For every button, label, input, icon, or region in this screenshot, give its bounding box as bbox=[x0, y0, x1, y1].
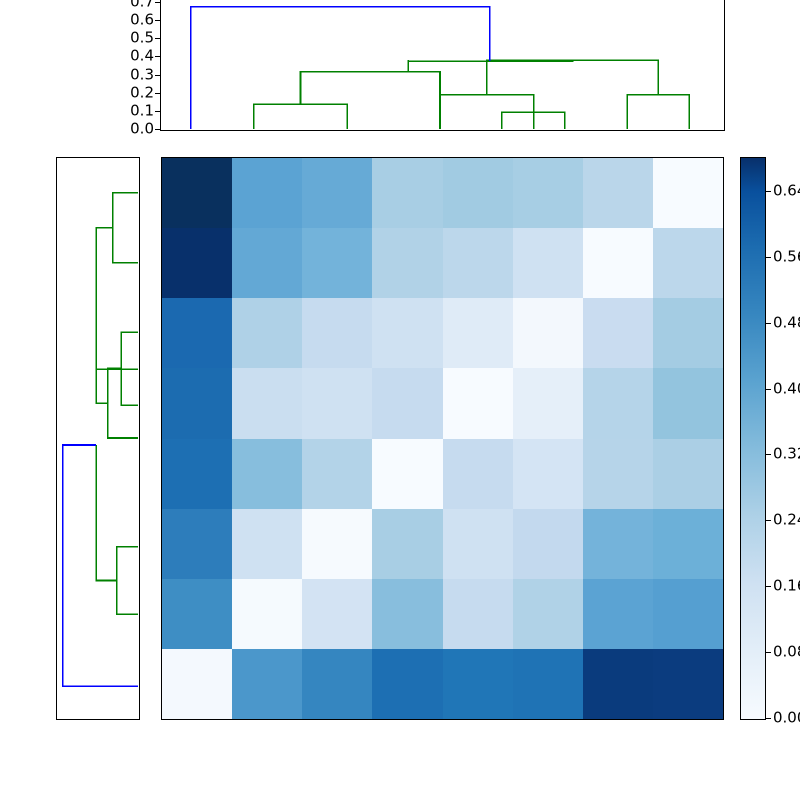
heatmap-cell bbox=[372, 158, 442, 228]
heatmap-cell bbox=[513, 649, 583, 719]
heatmap-cell bbox=[302, 509, 372, 579]
heatmap-cell bbox=[513, 158, 583, 228]
heatmap-cell bbox=[162, 368, 232, 438]
heatmap-cell bbox=[653, 649, 723, 719]
heatmap-cell bbox=[162, 158, 232, 228]
heatmap-cell bbox=[162, 298, 232, 368]
col-dendrogram-canvas bbox=[161, 0, 724, 130]
heatmap-cell bbox=[372, 579, 442, 649]
col-dendrogram-ytick-label: 0.6 bbox=[130, 13, 154, 28]
heatmap-cell bbox=[162, 649, 232, 719]
heatmap-cell bbox=[232, 579, 302, 649]
col-link-green-6 bbox=[627, 95, 689, 129]
heatmap-cell bbox=[583, 368, 653, 438]
col-link-green-2 bbox=[301, 72, 441, 129]
colorbar-tick-mark bbox=[766, 389, 771, 390]
heatmap-cell bbox=[162, 579, 232, 649]
heatmap-cell bbox=[583, 439, 653, 509]
heatmap-cell bbox=[232, 509, 302, 579]
heatmap-cell bbox=[232, 439, 302, 509]
heatmap-cell bbox=[232, 298, 302, 368]
colorbar-tick-mark bbox=[766, 586, 771, 587]
col-dendrogram-ytick-label: 0.0 bbox=[130, 122, 154, 137]
col-dendrogram-ytick-label: 0.4 bbox=[130, 49, 154, 64]
heatmap-cell bbox=[653, 368, 723, 438]
col-dendrogram-ytick-label: 0.5 bbox=[130, 31, 154, 46]
heatmap-cell bbox=[513, 509, 583, 579]
heatmap-cell bbox=[162, 509, 232, 579]
col-link-blue-root bbox=[191, 7, 490, 129]
heatmap-cell bbox=[653, 158, 723, 228]
heatmap-cell bbox=[162, 228, 232, 298]
col-link-green-9 bbox=[408, 60, 572, 72]
row-link-green-6 bbox=[117, 547, 138, 615]
heatmap-cell bbox=[653, 298, 723, 368]
heatmap-cell bbox=[372, 439, 442, 509]
colorbar-tick-label: 0.48 bbox=[773, 315, 800, 330]
heatmap-cell bbox=[302, 158, 372, 228]
heatmap-cell bbox=[372, 368, 442, 438]
heatmap-cell bbox=[443, 509, 513, 579]
row-dendrogram bbox=[56, 157, 140, 720]
heatmap-cell bbox=[583, 298, 653, 368]
row-link-blue-root bbox=[63, 445, 138, 686]
row-dendrogram-canvas bbox=[57, 158, 139, 719]
colorbar-tick-label: 0.16 bbox=[773, 579, 800, 594]
col-dendrogram-y-axis: 0.70.60.50.40.30.20.10.0 bbox=[122, 0, 160, 131]
heatmap-cell bbox=[653, 439, 723, 509]
colorbar-tick-label: 0.24 bbox=[773, 513, 800, 528]
colorbar bbox=[740, 157, 766, 720]
colorbar-tick-mark bbox=[766, 191, 771, 192]
colorbar-tick-labels: 0.640.560.480.400.320.240.160.080.00 bbox=[766, 157, 800, 720]
heatmap-cell bbox=[302, 439, 372, 509]
colorbar-tick-label: 0.64 bbox=[773, 183, 800, 198]
heatmap-cell bbox=[583, 228, 653, 298]
heatmap-cell bbox=[232, 368, 302, 438]
row-link-green-4 bbox=[108, 368, 138, 438]
clustermap-figure: 0.70.60.50.40.30.20.10.0 bbox=[0, 0, 800, 800]
heatmap-cell bbox=[653, 228, 723, 298]
colorbar-tick-label: 0.40 bbox=[773, 381, 800, 396]
colorbar-tick-mark bbox=[766, 652, 771, 653]
heatmap-cell bbox=[513, 368, 583, 438]
col-link-green-7 bbox=[487, 60, 658, 94]
colorbar-tick-mark bbox=[766, 323, 771, 324]
heatmap-cell bbox=[302, 579, 372, 649]
heatmap-cell bbox=[513, 579, 583, 649]
heatmap-cell bbox=[513, 298, 583, 368]
row-link-green-5 bbox=[96, 369, 108, 403]
row-link-green-7 bbox=[96, 445, 117, 581]
colorbar-tick-label: 0.00 bbox=[773, 711, 800, 726]
colorbar-tick-mark bbox=[766, 454, 771, 455]
heatmap-cell bbox=[302, 649, 372, 719]
heatmap-cell bbox=[443, 368, 513, 438]
heatmap-cell bbox=[302, 298, 372, 368]
heatmap-cell bbox=[372, 298, 442, 368]
heatmap-cell bbox=[443, 298, 513, 368]
heatmap-cell bbox=[372, 228, 442, 298]
heatmap-cell bbox=[443, 579, 513, 649]
row-link-green-2 bbox=[96, 228, 138, 369]
heatmap-cell bbox=[232, 158, 302, 228]
heatmap-cell bbox=[583, 158, 653, 228]
heatmap-cell bbox=[232, 649, 302, 719]
col-link-green-1 bbox=[254, 104, 348, 129]
heatmap-cell bbox=[583, 579, 653, 649]
heatmap-cell bbox=[513, 228, 583, 298]
col-dendrogram-ytick-label: 0.3 bbox=[130, 67, 154, 82]
heatmap-cell bbox=[583, 649, 653, 719]
heatmap-grid bbox=[161, 157, 724, 720]
heatmap-cell bbox=[653, 509, 723, 579]
colorbar-tick-label: 0.08 bbox=[773, 645, 800, 660]
heatmap-cell bbox=[443, 649, 513, 719]
heatmap-cell bbox=[443, 228, 513, 298]
colorbar-tick-mark bbox=[766, 718, 771, 719]
heatmap-cell bbox=[302, 228, 372, 298]
colorbar-tick-label: 0.56 bbox=[773, 249, 800, 264]
colorbar-tick-label: 0.32 bbox=[773, 447, 800, 462]
row-link-green-1 bbox=[113, 193, 138, 263]
heatmap-cell bbox=[232, 228, 302, 298]
colorbar-tick-mark bbox=[766, 257, 771, 258]
col-dendrogram-ytick-label: 0.7 bbox=[130, 0, 154, 10]
heatmap-cell bbox=[583, 509, 653, 579]
heatmap-cell bbox=[302, 368, 372, 438]
heatmap-cell bbox=[372, 509, 442, 579]
colorbar-tick-mark bbox=[766, 520, 771, 521]
heatmap-cell bbox=[443, 439, 513, 509]
heatmap-cell bbox=[372, 649, 442, 719]
col-dendrogram-ytick-label: 0.1 bbox=[130, 103, 154, 118]
col-dendrogram bbox=[160, 0, 725, 131]
heatmap-cell bbox=[513, 439, 583, 509]
heatmap-cell bbox=[653, 579, 723, 649]
col-dendrogram-ytick-label: 0.2 bbox=[130, 85, 154, 100]
heatmap-cell bbox=[162, 439, 232, 509]
heatmap-cell bbox=[443, 158, 513, 228]
